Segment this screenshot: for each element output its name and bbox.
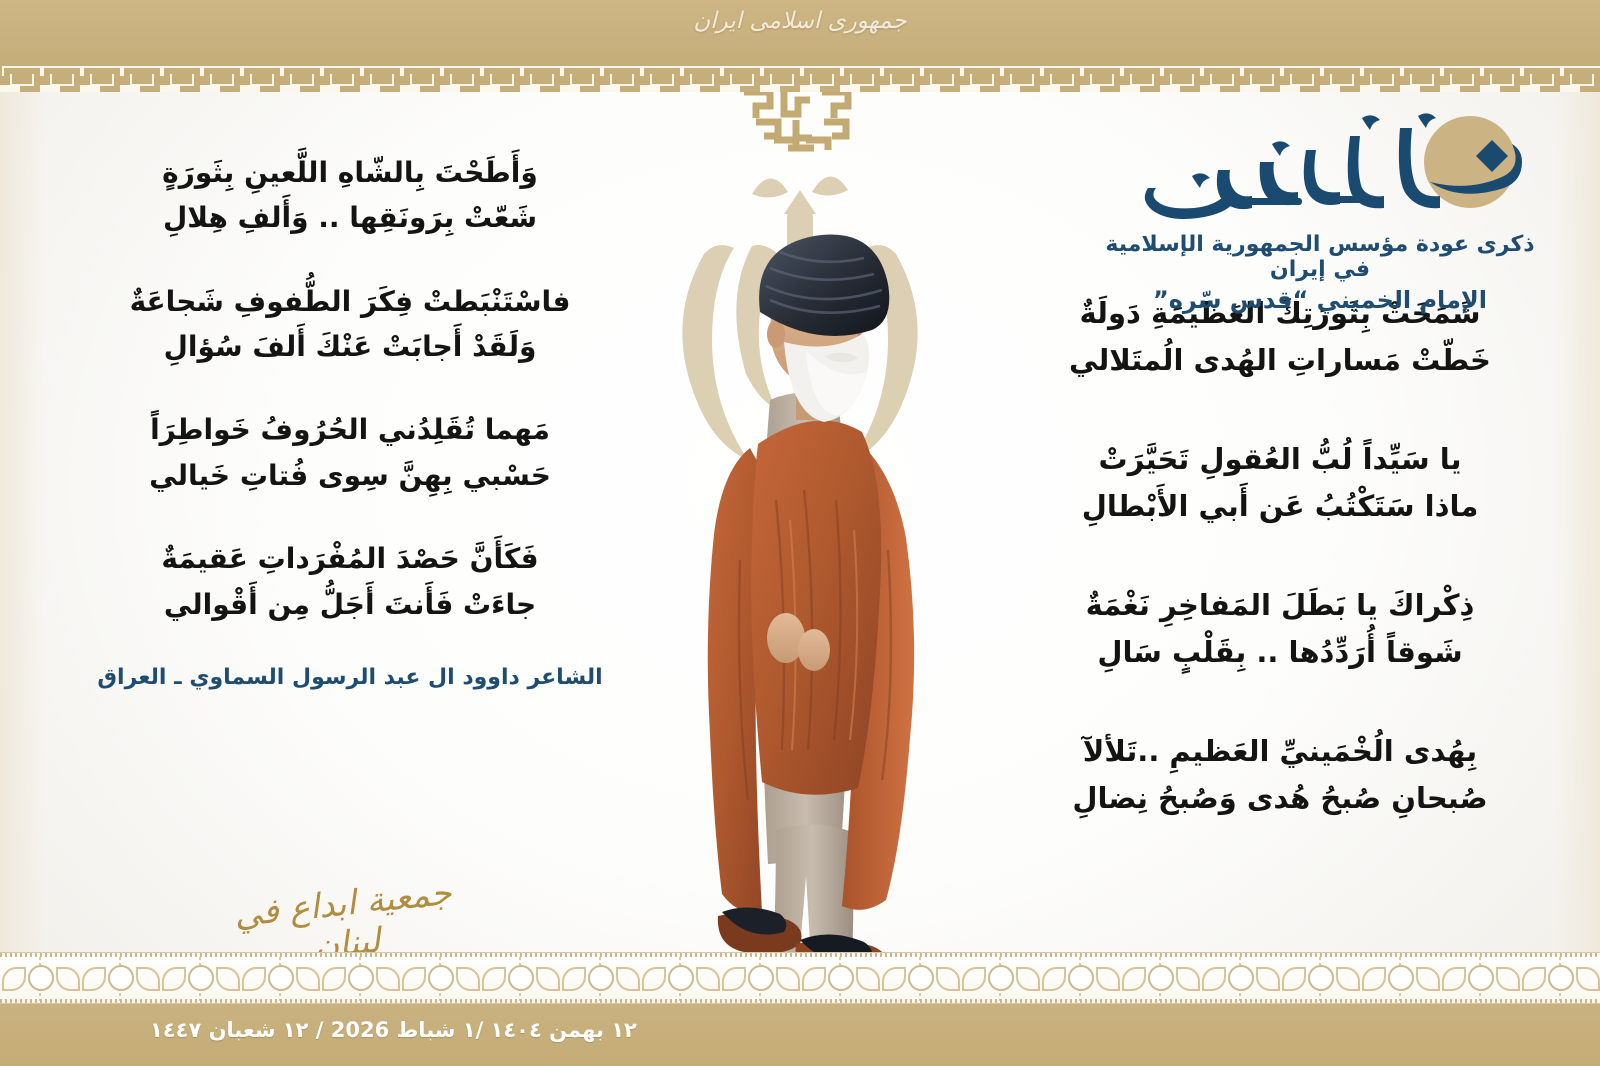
meander-tooth <box>620 85 640 92</box>
rosette-disc <box>1148 965 1174 991</box>
verse: ذِكْراكَ يا بَطَلَ المَفاخِرِ نَغْمَةٌ ش… <box>1020 582 1540 676</box>
rosette-leaf-right <box>616 967 640 991</box>
meander-tooth <box>300 85 320 92</box>
meander-tooth <box>1040 85 1060 92</box>
rosette-unit <box>240 953 320 1004</box>
rosette-unit <box>560 953 640 1004</box>
meander-tooth <box>60 85 80 92</box>
meander-tooth <box>340 85 360 92</box>
meander-tooth <box>900 85 920 92</box>
meander-tooth <box>240 85 260 92</box>
meander-tooth <box>1340 85 1360 92</box>
meander-tooth <box>40 85 60 92</box>
rosette-disc <box>988 965 1014 991</box>
rosette-unit <box>400 953 480 1004</box>
meander-tooth <box>1400 85 1420 92</box>
verse-hemistich: صُبحانِ صُبحُ هُدى وَصُبحُ نِضالِ <box>1020 775 1540 822</box>
meander-tooth <box>400 85 420 92</box>
rosette-leaf-right <box>1496 967 1520 991</box>
association-calligraphy-logo[interactable]: جمعية ابداع في لبنان <box>225 870 465 960</box>
poem-column-right: شَمَخَتْ بِثَورَتِكَ العَظيمَةِ دَولَةٌ … <box>1020 290 1540 874</box>
rosette-disc <box>588 965 614 991</box>
meander-tooth <box>1480 85 1500 92</box>
rosette-leaf-right <box>696 967 720 991</box>
meander-key-unit <box>800 64 840 86</box>
meander-tooth <box>600 85 620 92</box>
meander-key-unit <box>240 64 280 86</box>
meander-key-unit <box>1360 64 1400 86</box>
rosette-leaf-left <box>962 967 986 991</box>
meander-key-unit <box>1160 64 1200 86</box>
meander-key-unit <box>280 64 320 86</box>
meander-key-unit <box>480 64 520 86</box>
meander-tooth <box>440 85 460 92</box>
poet-credit: الشاعر داوود ال عبد الرسول السماوي ـ الع… <box>80 665 620 690</box>
meander-key-unit <box>720 64 760 86</box>
meander-tooth <box>780 85 800 92</box>
meander-tooth <box>560 85 580 92</box>
meander-key-unit <box>840 64 880 86</box>
verse: فاسْتَنْبَطتْ فِكَرَ الطُّفوفِ شَجاعَةٌ … <box>80 279 620 370</box>
verse: فَكَأَنَّ حَصْدَ المُفْرَداتِ عَقيمَةٌ ج… <box>80 536 620 627</box>
meander-border-ornament <box>0 62 1600 92</box>
meander-tooth <box>520 85 540 92</box>
meander-key-unit <box>1000 64 1040 86</box>
rosette-leaf-left <box>1202 967 1226 991</box>
meander-tooth <box>1180 85 1200 92</box>
rosette-unit <box>720 953 800 1004</box>
meander-key-unit <box>440 64 480 86</box>
meander-tooth <box>260 85 280 92</box>
meander-tooth <box>1520 85 1540 92</box>
meander-key-unit <box>520 64 560 86</box>
meander-tooth <box>20 85 40 92</box>
meander-tooth <box>380 85 400 92</box>
meander-tooth <box>760 85 780 92</box>
meander-key-unit <box>160 64 200 86</box>
rosette-disc <box>748 965 774 991</box>
verse-hemistich: شَعّتْ بِرَونَقِها .. وَأَلفِ هِلالِ <box>80 195 620 240</box>
top-banner-title: جمهوری اسلامی ایران <box>0 8 1600 34</box>
rosette-leaf-left <box>1282 967 1306 991</box>
rosette-disc <box>1068 965 1094 991</box>
rosette-leaf-right <box>776 967 800 991</box>
meander-tooth <box>1080 85 1100 92</box>
top-gold-banner: جمهوری اسلامی ایران <box>0 0 1600 62</box>
meander-teeth-row <box>0 85 1600 92</box>
rosette-leaf-right <box>56 967 80 991</box>
meander-tooth <box>660 85 680 92</box>
meander-tooth <box>80 85 100 92</box>
rosette-leaf-left <box>482 967 506 991</box>
logo-subtitle-primary: ذكرى عودة مؤسس الجمهورية الإسلامية في إي… <box>1100 232 1540 282</box>
meander-tooth <box>1020 85 1040 92</box>
rosette-leaf-right <box>1416 967 1440 991</box>
rosette-leaf-left <box>162 967 186 991</box>
rosette-leaf-left <box>2 967 26 991</box>
verse: وَأَطَحْتَ بِالشّاهِ اللَّعينِ بِثَورَةٍ… <box>80 150 620 241</box>
rosette-disc <box>348 965 374 991</box>
verse-hemistich: وَأَطَحْتَ بِالشّاهِ اللَّعينِ بِثَورَةٍ <box>80 150 620 195</box>
logo-subtitle-secondary: الإمام الخميني “قدس سّره” <box>1100 286 1540 314</box>
nida-al-anbiya-logo[interactable]: ذكرى عودة مؤسس الجمهورية الإسلامية في إي… <box>1100 110 1540 314</box>
poster-canvas: جمهوری اسلامی ایران <box>0 0 1600 1066</box>
meander-key-unit <box>600 64 640 86</box>
rosette-unit <box>1520 953 1600 1004</box>
meander-tooth <box>460 85 480 92</box>
verse: مَهما تُقَلِدُني الحُرُوفُ خَواطِرَاً حَ… <box>80 407 620 498</box>
rosette-disc <box>1548 965 1574 991</box>
meander-tooth <box>200 85 220 92</box>
rosette-unit <box>1360 953 1440 1004</box>
meander-tooth <box>1060 85 1080 92</box>
meander-tooth <box>1240 85 1260 92</box>
meander-tooth <box>1500 85 1520 92</box>
rosette-disc <box>28 965 54 991</box>
meander-tooth <box>1380 85 1400 92</box>
verse-hemistich: مَهما تُقَلِدُني الحُرُوفُ خَواطِرَاً <box>80 407 620 452</box>
meander-tooth <box>1540 85 1560 92</box>
meander-tooth <box>740 85 760 92</box>
rosette-disc <box>1228 965 1254 991</box>
rosette-leaf-right <box>1576 967 1600 991</box>
verse-hemistich: فاسْتَنْبَطتْ فِكَرَ الطُّفوفِ شَجاعَةٌ <box>80 279 620 324</box>
verse-hemistich: خَطّتْ مَساراتِ الهُدى الُمتَلالي <box>1020 337 1540 384</box>
rosette-disc <box>108 965 134 991</box>
meander-key-unit <box>960 64 1000 86</box>
meander-key-unit <box>1480 64 1520 86</box>
rosette-row <box>0 953 1600 1004</box>
meander-key-unit <box>560 64 600 86</box>
meander-tooth <box>1300 85 1320 92</box>
meander-tooth <box>1420 85 1440 92</box>
rosette-leaf-left <box>882 967 906 991</box>
rosette-disc <box>1308 965 1334 991</box>
rosette-leaf-right <box>936 967 960 991</box>
rosette-leaf-left <box>1122 967 1146 991</box>
rosette-unit <box>320 953 400 1004</box>
rosette-unit <box>1040 953 1120 1004</box>
rosette-unit <box>800 953 880 1004</box>
meander-tooth <box>280 85 300 92</box>
rosette-leaf-left <box>722 967 746 991</box>
logo-wordmark-icon <box>1100 110 1540 230</box>
meander-tooth <box>1160 85 1180 92</box>
verse: بِهُدى الُخْمَينيِّ العَظيمِ ..تَلألآ صُ… <box>1020 728 1540 822</box>
meander-tooth <box>1100 85 1120 92</box>
meander-key-row <box>0 64 1600 86</box>
meander-tooth <box>700 85 720 92</box>
rosette-disc <box>428 965 454 991</box>
left-edge-shade <box>0 92 46 952</box>
meander-tooth <box>1260 85 1280 92</box>
rosette-leaf-left <box>402 967 426 991</box>
dot-line-bottom <box>0 999 1600 1003</box>
meander-tooth <box>1280 85 1300 92</box>
verse-hemistich: وَلَقَدْ أَجابَتْ عَنْكَ أَلفَ سُؤالِ <box>80 324 620 369</box>
rosette-disc <box>828 965 854 991</box>
date-line: ١٢ بهمن ١٤٠٤ /١ شباط 2026 / ١٢ شعبان ١٤٤… <box>150 1018 637 1042</box>
meander-tooth <box>1360 85 1380 92</box>
meander-tooth <box>960 85 980 92</box>
rosette-leaf-left <box>802 967 826 991</box>
meander-tooth <box>0 85 20 92</box>
meander-key-unit <box>0 64 40 86</box>
meander-key-unit <box>1520 64 1560 86</box>
rosette-leaf-left <box>322 967 346 991</box>
meander-key-unit <box>1400 64 1440 86</box>
meander-key-unit <box>1200 64 1240 86</box>
meander-key-unit <box>1120 64 1160 86</box>
rosette-leaf-left <box>1042 967 1066 991</box>
meander-key-unit <box>360 64 400 86</box>
square-kufic-ornament <box>726 88 876 153</box>
meander-tooth <box>320 85 340 92</box>
rosette-disc <box>188 965 214 991</box>
meander-tooth <box>540 85 560 92</box>
verse-hemistich: ماذا سَتَكْتُبُ عَن أَبي الأَبْطالِ <box>1020 483 1540 530</box>
meander-tooth <box>720 85 740 92</box>
verse-hemistich: ذِكْراكَ يا بَطَلَ المَفاخِرِ نَغْمَةٌ <box>1020 582 1540 629</box>
rosette-leaf-right <box>536 967 560 991</box>
rosette-disc <box>1388 965 1414 991</box>
rosette-leaf-left <box>242 967 266 991</box>
rosette-unit <box>960 953 1040 1004</box>
verse-hemistich: فَكَأَنَّ حَصْدَ المُفْرَداتِ عَقيمَةٌ <box>80 536 620 581</box>
meander-key-unit <box>640 64 680 86</box>
meander-key-unit <box>80 64 120 86</box>
verse-hemistich: يا سَيِّداً لُبُّ العُقولِ تَحَيَّرَتْ <box>1020 436 1540 483</box>
poem-column-left: وَأَطَحْتَ بِالشّاهِ اللَّعينِ بِثَورَةٍ… <box>80 150 620 690</box>
rosette-disc <box>1468 965 1494 991</box>
rosette-leaf-right <box>1096 967 1120 991</box>
meander-key-unit <box>120 64 160 86</box>
meander-tooth <box>840 85 860 92</box>
meander-tooth <box>860 85 880 92</box>
rosette-unit <box>880 953 960 1004</box>
meander-key-unit <box>200 64 240 86</box>
rosette-leaf-right <box>1176 967 1200 991</box>
rosette-leaf-right <box>216 967 240 991</box>
verse-hemistich: بِهُدى الُخْمَينيِّ العَظيمِ ..تَلألآ <box>1020 728 1540 775</box>
right-edge-shade <box>1554 92 1600 952</box>
rosette-leaf-right <box>136 967 160 991</box>
rosette-unit <box>80 953 160 1004</box>
meander-key-unit <box>1560 64 1600 86</box>
rosette-unit <box>1120 953 1200 1004</box>
meander-key-unit <box>1440 64 1480 86</box>
meander-tooth <box>1140 85 1160 92</box>
meander-tooth <box>1000 85 1020 92</box>
meander-tooth <box>220 85 240 92</box>
rosette-leaf-right <box>456 967 480 991</box>
rosette-leaf-right <box>1256 967 1280 991</box>
rosette-unit <box>480 953 560 1004</box>
rosette-leaf-left <box>562 967 586 991</box>
meander-tooth <box>880 85 900 92</box>
meander-tooth <box>1320 85 1340 92</box>
meander-tooth <box>1120 85 1140 92</box>
rosette-leaf-left <box>1522 967 1546 991</box>
meander-key-unit <box>880 64 920 86</box>
meander-tooth <box>1580 85 1600 92</box>
rosette-leaf-right <box>856 967 880 991</box>
meander-tooth <box>160 85 180 92</box>
meander-tooth <box>360 85 380 92</box>
verse-hemistich: شَوقاً أُرَدِّدُها .. بِقَلْبٍ سَالِ <box>1020 629 1540 676</box>
meander-tooth <box>180 85 200 92</box>
rosette-disc <box>508 965 534 991</box>
meander-tooth <box>1460 85 1480 92</box>
verse: يا سَيِّداً لُبُّ العُقولِ تَحَيَّرَتْ م… <box>1020 436 1540 530</box>
rosette-unit <box>1200 953 1280 1004</box>
rosette-leaf-left <box>642 967 666 991</box>
rosette-unit <box>1280 953 1360 1004</box>
meander-tooth <box>680 85 700 92</box>
meander-key-unit <box>680 64 720 86</box>
meander-key-unit <box>320 64 360 86</box>
rosette-leaf-right <box>376 967 400 991</box>
meander-tooth <box>500 85 520 92</box>
meander-tooth <box>580 85 600 92</box>
meander-key-unit <box>1080 64 1120 86</box>
rosette-disc <box>908 965 934 991</box>
rosette-leaf-left <box>1362 967 1386 991</box>
meander-tooth <box>1440 85 1460 92</box>
rosette-disc <box>268 965 294 991</box>
meander-tooth <box>640 85 660 92</box>
verse-hemistich: جاءَتْ فَأَنتَ أَجَلُّ مِن أَقْوالي <box>80 582 620 627</box>
meander-key-unit <box>1240 64 1280 86</box>
rosette-leaf-right <box>1016 967 1040 991</box>
rosette-unit <box>0 953 80 1004</box>
meander-tooth <box>480 85 500 92</box>
meander-tooth <box>1220 85 1240 92</box>
meander-tooth <box>980 85 1000 92</box>
meander-tooth <box>120 85 140 92</box>
rosette-leaf-right <box>1336 967 1360 991</box>
meander-key-unit <box>400 64 440 86</box>
rosette-unit <box>160 953 240 1004</box>
meander-key-unit <box>1280 64 1320 86</box>
meander-tooth <box>940 85 960 92</box>
meander-key-unit <box>40 64 80 86</box>
meander-key-unit <box>1320 64 1360 86</box>
rosette-leaf-left <box>82 967 106 991</box>
verse-hemistich: حَسْبي بِهِنَّ سِوى فُتاتِ خَيالي <box>80 453 620 498</box>
meander-key-unit <box>920 64 960 86</box>
rosette-leaf-left <box>1442 967 1466 991</box>
meander-tooth <box>1560 85 1580 92</box>
meander-key-unit <box>760 64 800 86</box>
rosette-leaf-right <box>296 967 320 991</box>
meander-tooth <box>140 85 160 92</box>
bottom-gold-banner: ١٢ بهمن ١٤٠٤ /١ شباط 2026 / ١٢ شعبان ١٤٤… <box>0 1004 1600 1066</box>
rosette-unit <box>640 953 720 1004</box>
meander-tooth <box>800 85 820 92</box>
meander-tooth <box>420 85 440 92</box>
rosette-unit <box>1440 953 1520 1004</box>
meander-tooth <box>920 85 940 92</box>
rosette-disc <box>668 965 694 991</box>
meander-tooth <box>100 85 120 92</box>
imam-khomeini-portrait <box>600 200 1020 990</box>
meander-key-unit <box>1040 64 1080 86</box>
floral-border-ornament <box>0 952 1600 1004</box>
meander-tooth <box>820 85 840 92</box>
meander-tooth <box>1200 85 1220 92</box>
